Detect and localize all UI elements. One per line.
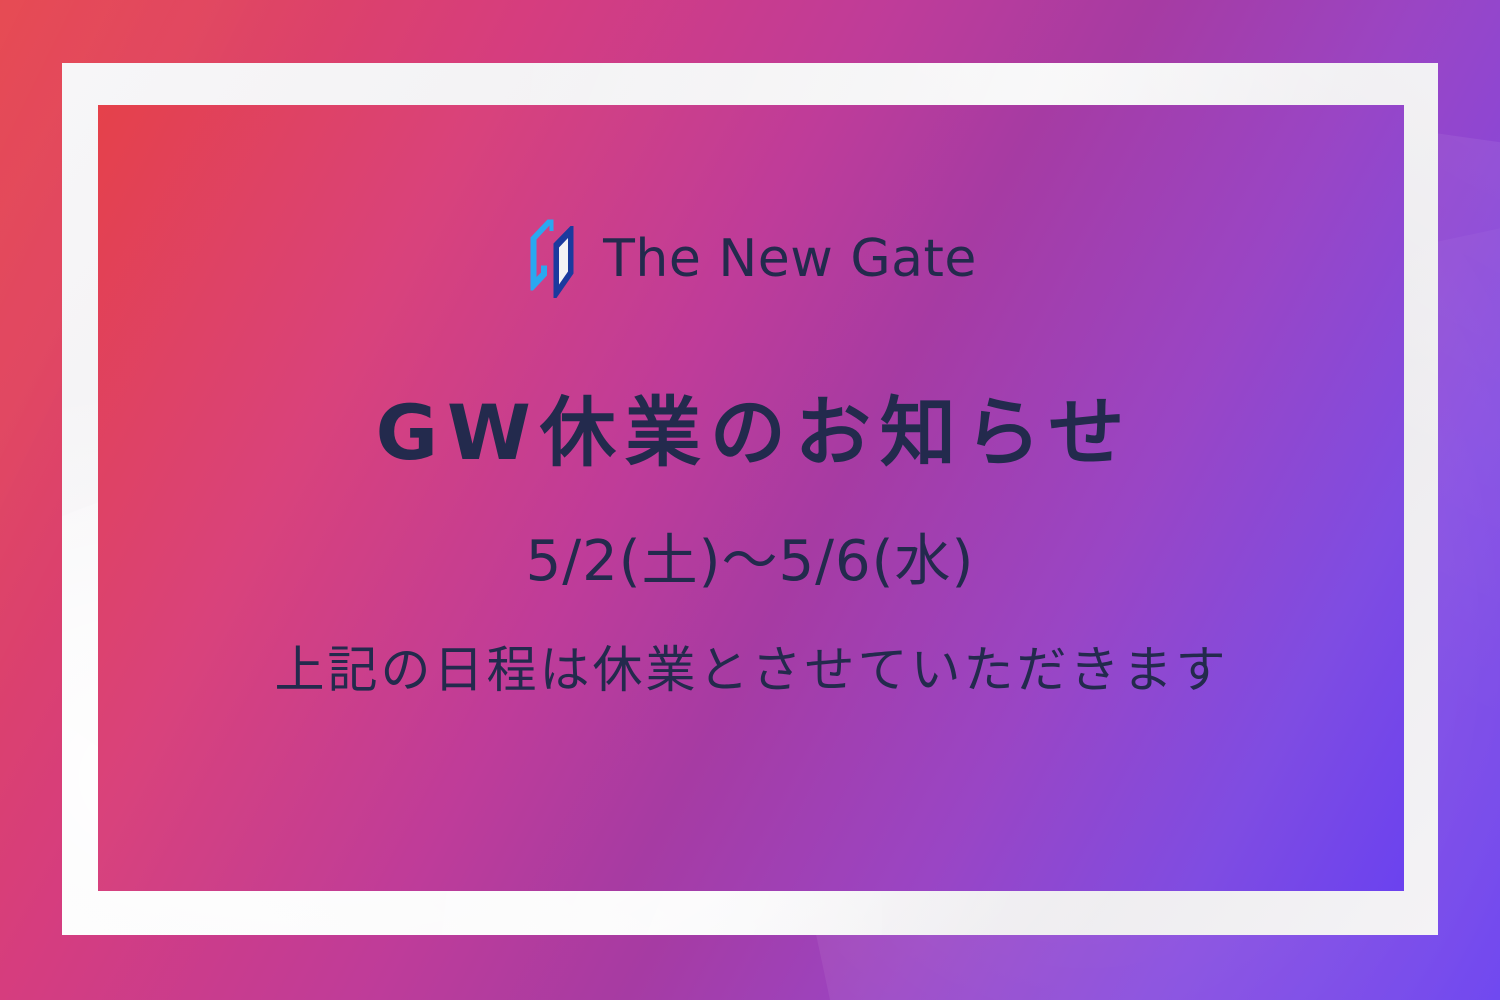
white-card: The New Gate GW休業のお知らせ 5/2(土)〜5/6(水) 上記の… (62, 63, 1438, 935)
brand-wordmark: The New Gate (603, 233, 977, 285)
closure-note: 上記の日程は休業とさせていただきます (272, 640, 1229, 700)
closure-date-range: 5/2(土)〜5/6(水) (526, 531, 975, 593)
announcement-poster: The New Gate GW休業のお知らせ 5/2(土)〜5/6(水) 上記の… (0, 0, 1500, 1000)
the-new-gate-logo-icon (523, 213, 581, 305)
card-content: The New Gate GW休業のお知らせ 5/2(土)〜5/6(水) 上記の… (62, 63, 1438, 935)
page-title: GW休業のお知らせ (367, 391, 1134, 475)
brand-logo-lockup: The New Gate (523, 213, 977, 305)
